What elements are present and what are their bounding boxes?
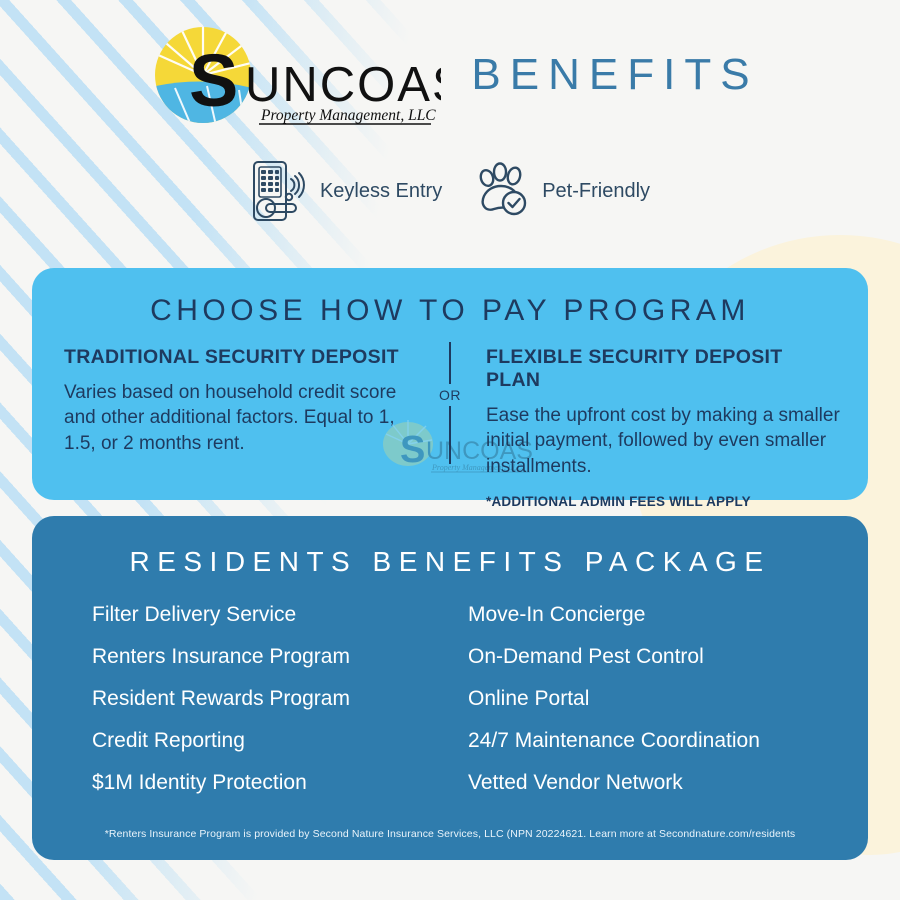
feature-icons-row: Keyless Entry Pet-Friendly [0,158,900,224]
svg-text:S: S [189,39,238,122]
pay-option-traditional-body: Varies based on household credit score a… [64,380,424,456]
residents-benefits-package-panel: RESIDENTS BENEFITS PACKAGE Filter Delive… [32,516,868,860]
keypad-lock-icon [250,158,314,224]
rbp-footnote: *Renters Insurance Program is provided b… [32,828,868,840]
header: S UNCOAST Property Management, LLC BENEF… [0,0,900,150]
rbp-title: RESIDENTS BENEFITS PACKAGE [32,516,868,578]
svg-text:UNCOAST: UNCOAST [245,58,441,112]
feature-label-pet-friendly: Pet-Friendly [542,180,650,203]
feature-label-keyless-entry: Keyless Entry [320,180,442,203]
list-item: Credit Reporting [92,730,450,751]
list-item: Online Portal [468,688,868,709]
pay-option-flexible-heading: FLEXIBLE SECURITY DEPOSIT PLAN [486,346,842,392]
rbp-column-right: Move-In Concierge On-Demand Pest Control… [450,604,868,814]
pay-option-flexible-body: Ease the upfront cost by making a smalle… [486,403,842,479]
feature-keyless-entry: Keyless Entry [250,158,442,224]
benefits-flyer: S UNCOAST Property Management, LLC BENEF… [0,0,900,900]
logo-tagline-text: Property Management, LLC [260,107,436,124]
divider-line-top [449,342,451,384]
list-item: Resident Rewards Program [92,688,450,709]
paw-check-icon [472,159,536,223]
divider-label-or: OR [439,384,461,406]
list-item: Renters Insurance Program [92,646,450,667]
rbp-columns: Filter Delivery Service Renters Insuranc… [32,604,868,814]
pay-option-flexible: FLEXIBLE SECURITY DEPOSIT PLAN Ease the … [450,346,868,509]
list-item: 24/7 Maintenance Coordination [468,730,868,751]
list-item: Move-In Concierge [468,604,868,625]
admin-fees-note: *ADDITIONAL ADMIN FEES WILL APPLY [486,494,842,509]
list-item: Filter Delivery Service [92,604,450,625]
list-item: On-Demand Pest Control [468,646,868,667]
list-item: $1M Identity Protection [92,772,450,793]
suncoast-logo-icon: S UNCOAST Property Management, LLC [141,20,441,130]
pay-option-traditional: TRADITIONAL SECURITY DEPOSIT Varies base… [32,346,450,509]
choose-how-to-pay-panel: CHOOSE HOW TO PAY PROGRAM TRADITIONAL SE… [32,268,868,500]
or-divider: OR [420,342,480,466]
page-title: BENEFITS [471,50,758,100]
list-item: Vetted Vendor Network [468,772,868,793]
pay-program-columns: TRADITIONAL SECURITY DEPOSIT Varies base… [32,346,868,509]
suncoast-logo: S UNCOAST Property Management, LLC [141,20,441,130]
pay-program-title: CHOOSE HOW TO PAY PROGRAM [32,268,868,328]
divider-line-bottom [449,406,451,464]
pay-option-traditional-heading: TRADITIONAL SECURITY DEPOSIT [64,346,424,369]
rbp-column-left: Filter Delivery Service Renters Insuranc… [32,604,450,814]
feature-pet-friendly: Pet-Friendly [472,159,650,223]
